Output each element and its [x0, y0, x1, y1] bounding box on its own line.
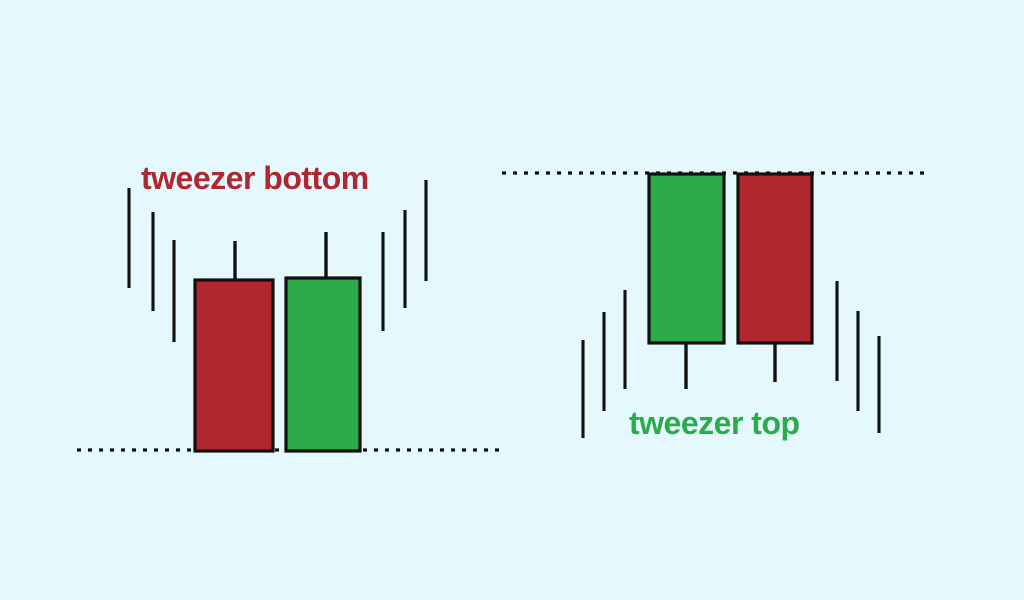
- pattern-label-tweezer-bottom: tweezer bottom: [141, 160, 369, 196]
- pattern-label-tweezer-top: tweezer top: [629, 405, 800, 441]
- candle-body-bullish[interactable]: [286, 278, 360, 451]
- candle-body-bearish[interactable]: [195, 280, 273, 451]
- candle-body-bullish[interactable]: [649, 174, 724, 343]
- candle-body-bearish[interactable]: [738, 174, 812, 343]
- diagram-canvas: tweezer bottomtweezer top: [0, 0, 1024, 600]
- candlestick-figure: tweezer bottomtweezer top: [0, 0, 1024, 600]
